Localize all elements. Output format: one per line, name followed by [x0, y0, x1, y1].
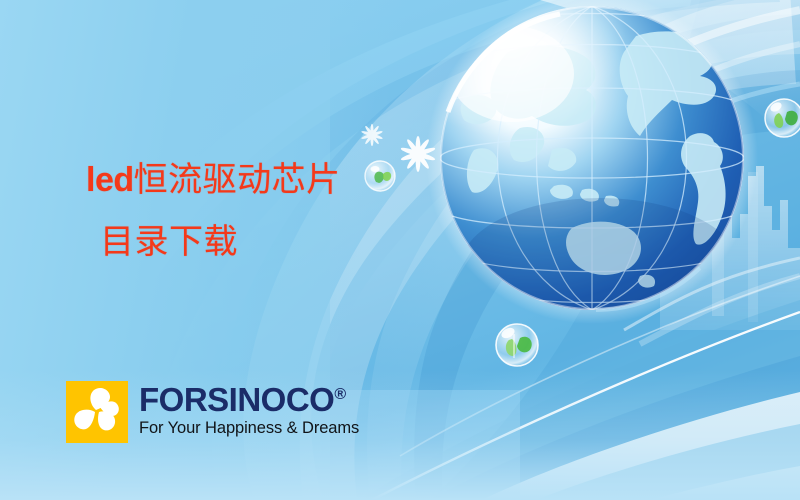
eco-bubble-right	[765, 99, 800, 137]
top-right-arcs	[540, 0, 800, 160]
bottom-right-swoosh	[360, 276, 800, 500]
pinwheel-petals-icon	[66, 381, 128, 443]
headline-line-1-latin: led	[86, 161, 134, 199]
registered-trademark-icon: ®	[334, 386, 346, 403]
daisy-flower-small	[361, 124, 383, 146]
headline-line-1: led恒流驱动芯片	[86, 163, 506, 198]
led-catalog-banner: led恒流驱动芯片 目录下载 FORSINOCO® For Your Happi…	[0, 0, 800, 500]
globe-landmasses	[461, 25, 769, 287]
city-skyline-silhouette	[624, 166, 800, 344]
logo-text-block: FORSINOCO® For Your Happiness & Dreams	[139, 381, 359, 437]
logo-wordmark-text: FORSINOCO	[139, 381, 334, 418]
headline-line-2: 目录下载	[100, 226, 506, 260]
logo-wordmark: FORSINOCO®	[139, 383, 359, 416]
headline-text: led恒流驱动芯片 目录下载	[86, 163, 506, 260]
globe-grid-lines	[440, 6, 744, 310]
headline-line-1-cjk: 恒流驱动芯片	[134, 162, 341, 199]
forsinoco-logo: FORSINOCO® For Your Happiness & Dreams	[66, 381, 359, 443]
logo-tagline: For Your Happiness & Dreams	[139, 420, 359, 437]
eco-bubble-center	[496, 324, 538, 366]
forsinoco-pinwheel-mark	[66, 381, 128, 443]
